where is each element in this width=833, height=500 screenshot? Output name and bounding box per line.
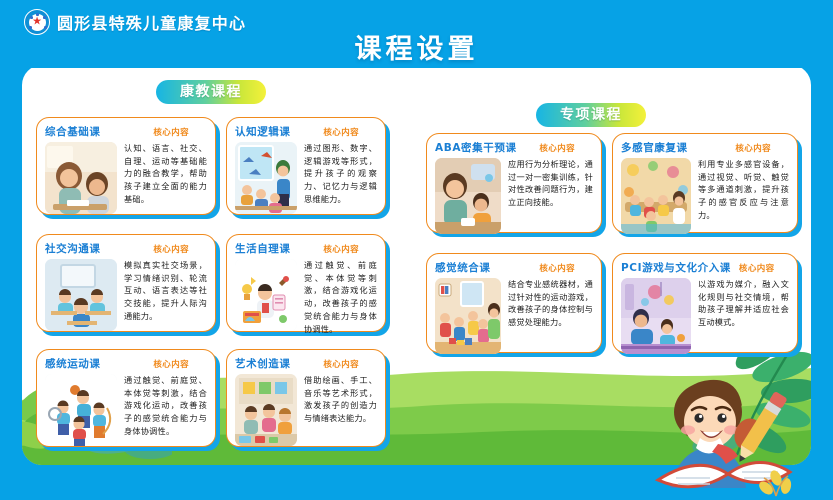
course-card-zonghejichu[interactable]: 综合基础课 核心内容 认知、语言、社交、自理、运动等基础能力的融合教学，帮助孩子… <box>36 117 216 215</box>
course-description: 利用专业多感官设备，通过视觉、听觉、触觉等多通道刺激，提升孩子的感官反应与注意力… <box>698 158 789 234</box>
core-content-label: 核心内容 <box>539 262 575 274</box>
course-card-shenghuozili[interactable]: 生活自理课 核心内容 通过触觉、前庭觉、本体觉等刺激，结合游戏化运动，改善孩子的… <box>226 234 386 332</box>
course-description: 应用行为分析理论，通过一对一密集训练，针对性改善问题行为，建立正向技能。 <box>508 158 593 234</box>
course-thumbnail-arts-and-crafts <box>235 374 297 446</box>
course-title: 认知逻辑课 <box>235 124 291 139</box>
course-title: 生活自理课 <box>235 241 291 256</box>
course-card-shejiaogoutong[interactable]: 社交沟通课 核心内容 模拟真实社交场景，学习情绪识别、轮流互动、语言表达等社交技… <box>36 234 216 332</box>
course-title: 综合基础课 <box>45 124 101 139</box>
course-card-renzhiluoji[interactable]: 认知逻辑课 核心内容 通过图形、数字、逻辑游戏等形式，提升孩子的观察力、记忆力与… <box>226 117 386 215</box>
course-thumbnail-students-at-desks <box>45 259 117 331</box>
course-card-aba[interactable]: ABA密集干预课 核心内容 应用行为分析理论，通过一对一密集训练，针对性改善问题… <box>426 133 602 233</box>
course-card-pci[interactable]: PCI游戏与文化介入课 核心内容 以游戏为媒介，融入文化规则与社交情境， <box>612 253 798 353</box>
core-content-label: 核心内容 <box>153 243 189 255</box>
course-description: 结合专业感统器材，通过针对性的运动游戏，改善孩子的身体控制与感觉处理能力。 <box>508 278 593 354</box>
core-content-label: 核心内容 <box>153 126 189 138</box>
section-badge-zhuanxiang[interactable]: 专项课程 <box>536 103 646 127</box>
course-title: 多感官康复课 <box>621 140 688 155</box>
section-badge-kangjiao[interactable]: 康教课程 <box>156 80 266 104</box>
course-thumbnail-play-on-mat <box>621 278 691 354</box>
core-content-label: 核心内容 <box>739 262 775 274</box>
course-card-yishuchuangzao[interactable]: 艺术创造课 核心内容 借助绘画、手工、音乐等艺术形式，激发孩子的创造力与 <box>226 349 386 447</box>
course-description: 模拟真实社交场景，学习情绪识别、轮流互动、语言表达等社交技能，提升人际沟通能力。 <box>124 259 207 331</box>
course-title: PCI游戏与文化介入课 <box>621 260 731 275</box>
course-card-ganjuetonghe[interactable]: 感觉统合课 核心内容 结合专业感统器材，通过针对性的运动游戏，改善孩子的身体控制… <box>426 253 602 353</box>
course-description: 通过图形、数字、逻辑游戏等形式，提升孩子的观察力、记忆力与逻辑思维能力。 <box>304 142 377 214</box>
course-title: 艺术创造课 <box>235 356 291 371</box>
course-thumbnail-teacher-and-child <box>45 142 117 214</box>
course-description: 以游戏为媒介，融入文化规则与社交情境，帮助孩子理解并适应社会互动模式。 <box>698 278 789 354</box>
course-description: 借助绘画、手工、音乐等艺术形式，激发孩子的创造力与情绪表达能力。 <box>304 374 377 446</box>
course-thumbnail-playroom-blocks <box>435 278 501 354</box>
course-card-duogangguan[interactable]: 多感官康复课 核心内容 利用专业多感官设备，通过视觉、听觉、触觉等多通道刺激，提… <box>612 133 798 233</box>
course-title: 感觉统合课 <box>435 260 491 275</box>
core-content-label: 核心内容 <box>539 142 575 154</box>
course-thumbnail-classroom <box>235 142 297 214</box>
course-card-gantongyundong[interactable]: 感统运动课 核心内容 通过触觉、前庭觉、本体觉等刺激，结合游戏化运动，改善孩子的… <box>36 349 216 447</box>
core-content-label: 核心内容 <box>735 142 771 154</box>
course-title: ABA密集干预课 <box>435 140 517 155</box>
course-description: 认知、语言、社交、自理、运动等基础能力的融合教学，帮助孩子建立全面的能力基础。 <box>124 142 207 214</box>
core-content-label: 核心内容 <box>323 243 359 255</box>
course-thumbnail-one-on-one-therapy <box>435 158 501 234</box>
page-title: 课程设置 <box>0 27 833 66</box>
core-content-label: 核心内容 <box>323 126 359 138</box>
course-title: 社交沟通课 <box>45 241 101 256</box>
course-title: 感统运动课 <box>45 356 101 371</box>
course-description: 通过触觉、前庭觉、本体觉等刺激，结合游戏化运动，改善孩子的感觉统合能力与身体协调… <box>304 259 377 335</box>
page-header: 圆形县特殊儿童康复中心 课程设置 <box>0 0 833 68</box>
course-description: 通过触觉、前庭觉、本体觉等刺激，结合游戏化运动，改善孩子的感觉统合能力与身体协调… <box>124 374 207 446</box>
core-content-label: 核心内容 <box>153 358 189 370</box>
course-thumbnail-daily-life-items <box>235 259 297 331</box>
core-content-label: 核心内容 <box>323 358 359 370</box>
course-thumbnail-multisensory-room <box>621 158 691 234</box>
course-thumbnail-children-sports <box>45 374 117 446</box>
